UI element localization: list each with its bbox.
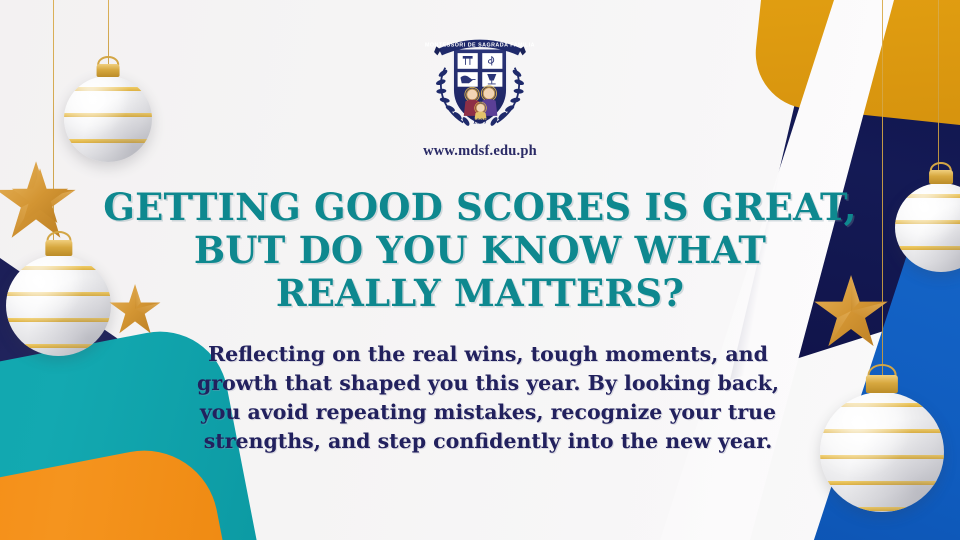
body-line-3: you avoid repeating mistakes, recognize … <box>148 398 828 427</box>
mdsf-crest-icon: MONTESSORI DE SAGRADA FAMILIA 1997 <box>424 24 536 136</box>
body-line-4: strengths, and step confidently into the… <box>148 427 828 456</box>
body-line-2: growth that shaped you this year. By loo… <box>148 369 828 398</box>
ornament-shine <box>820 392 944 512</box>
headline: GETTING GOOD SCORES IS GREAT, BUT DO YOU… <box>0 186 960 315</box>
ornament-ball <box>820 392 944 512</box>
ornament-cap-icon <box>929 170 953 184</box>
ornament-bottom-right <box>820 372 944 512</box>
poster-canvas: MONTESSORI DE SAGRADA FAMILIA 1997 www.m… <box>0 0 960 540</box>
headline-line-2: BUT DO YOU KNOW WHAT <box>0 229 960 272</box>
crest-year-text: 1997 <box>473 118 488 126</box>
crest-banner-text: MONTESSORI DE SAGRADA FAMILIA <box>425 42 535 48</box>
headline-line-1: GETTING GOOD SCORES IS GREAT, <box>0 186 960 229</box>
body-line-1: Reflecting on the real wins, tough momen… <box>148 340 828 369</box>
logo-block: MONTESSORI DE SAGRADA FAMILIA 1997 www.m… <box>0 24 960 160</box>
website-url[interactable]: www.mdsf.edu.ph <box>423 143 537 160</box>
headline-line-3: REALLY MATTERS? <box>0 272 960 315</box>
body-copy: Reflecting on the real wins, tough momen… <box>148 340 828 456</box>
ornament-cap-icon <box>866 375 898 393</box>
